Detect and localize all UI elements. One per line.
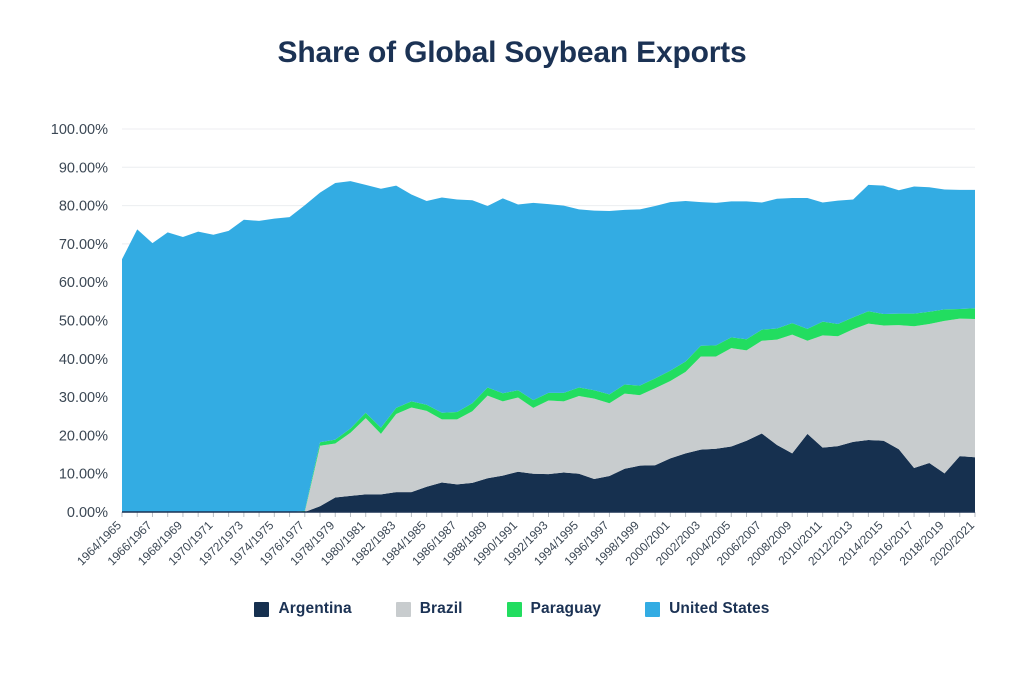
y-axis-tick-label: 60.00% (59, 275, 108, 291)
legend-item-paraguay[interactable]: Paraguay (507, 600, 602, 618)
y-axis-tick-label: 50.00% (59, 314, 108, 330)
y-axis-tick-label: 10.00% (59, 467, 108, 483)
stacked-area-chart-svg: 0.00%10.00%20.00%30.00%40.00%50.00%60.00… (0, 0, 1024, 683)
y-axis-tick-label: 90.00% (59, 160, 108, 176)
legend-swatch-icon (396, 602, 411, 617)
chart-plot-area: 0.00%10.00%20.00%30.00%40.00%50.00%60.00… (0, 0, 1024, 683)
x-axis-labels-group: 1964/19651966/19671968/19691970/19711972… (74, 518, 977, 568)
y-axis-tick-label: 30.00% (59, 390, 108, 406)
legend-item-brazil[interactable]: Brazil (396, 600, 463, 618)
legend-item-label: Argentina (278, 600, 351, 618)
y-axis-tick-label: 40.00% (59, 352, 108, 368)
y-axis-tick-label: 80.00% (59, 199, 108, 215)
y-axis-tick-label: 70.00% (59, 237, 108, 253)
chart-card: Share of Global Soybean Exports 0.00%10.… (0, 0, 1024, 683)
y-axis-tick-label: 0.00% (67, 505, 108, 521)
legend-item-label: United States (669, 600, 769, 618)
legend-swatch-icon (507, 602, 522, 617)
legend-swatch-icon (254, 602, 269, 617)
y-axis-tick-label: 20.00% (59, 428, 108, 444)
legend-item-label: Paraguay (531, 600, 602, 618)
y-axis-labels-group: 0.00%10.00%20.00%30.00%40.00%50.00%60.00… (51, 122, 108, 521)
y-axis-tick-label: 100.00% (51, 122, 108, 138)
legend-item-argentina[interactable]: Argentina (254, 600, 351, 618)
legend-item-united-states[interactable]: United States (645, 600, 769, 618)
legend-item-label: Brazil (420, 600, 463, 618)
chart-legend: ArgentinaBrazilParaguayUnited States (0, 600, 1024, 618)
area-series-group (122, 181, 975, 512)
legend-swatch-icon (645, 602, 660, 617)
